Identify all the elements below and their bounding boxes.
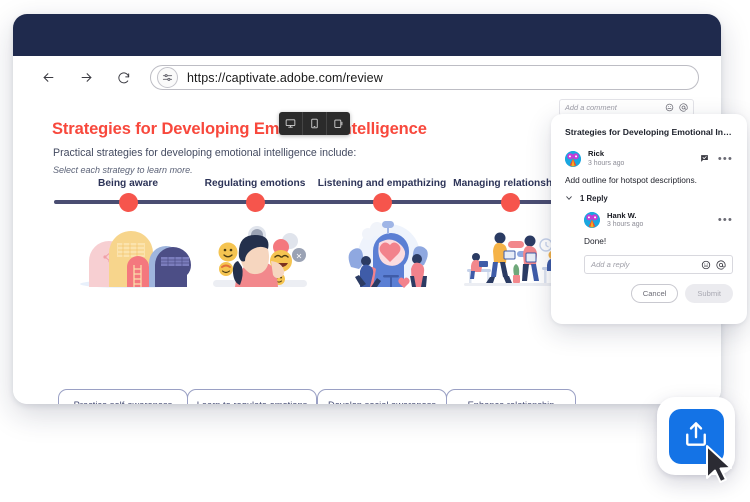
hotspot-card-text: Enhance relationship management skills t…	[454, 399, 568, 404]
comment-panel: Strategies for Developing Emotional Inte…	[551, 114, 747, 324]
page-title: Strategies for Developing Emotional Inte…	[52, 120, 427, 139]
arrow-right-icon[interactable]	[73, 65, 99, 91]
replies-toggle[interactable]: 1 Reply	[565, 194, 733, 203]
submit-button[interactable]: Submit	[685, 284, 733, 303]
browser-titlebar	[13, 14, 721, 56]
page-subtitle: Practical strategies for developing emot…	[53, 147, 356, 159]
add-comment-placeholder: Add a comment	[565, 103, 660, 112]
comment-panel-title: Strategies for Developing Emotional Inte…	[565, 127, 733, 137]
heads-profiles-illustration	[65, 217, 195, 289]
hotspot-dot-2[interactable]	[246, 193, 265, 212]
cancel-button[interactable]: Cancel	[631, 284, 679, 303]
hotspot-label-2: Regulating emotions	[205, 178, 306, 189]
emoji-icon[interactable]	[701, 260, 711, 270]
screenshot-stage: https://captivate.adobe.com/review Strat…	[0, 0, 750, 502]
reply-body: Done!	[584, 236, 733, 246]
more-options-icon[interactable]: •••	[718, 156, 733, 162]
comment-timestamp: 3 hours ago	[588, 160, 624, 168]
comment-header-actions: •••	[700, 154, 733, 163]
browser-toolbar: https://captivate.adobe.com/review	[13, 56, 721, 100]
resolve-comment-icon[interactable]	[700, 154, 709, 163]
hotspot-timeline	[54, 200, 569, 204]
hotspot-card-text: Practice self-awareness through reflecti…	[66, 399, 180, 404]
woman-emoji-bubbles-illustration: ×	[195, 217, 325, 289]
reply-author-block: Hank W. 3 hours ago	[607, 212, 643, 230]
emoji-icon[interactable]	[665, 103, 674, 112]
head-heart-brain-illustration	[324, 217, 454, 289]
reply-header: Hank W. 3 hours ago •••	[584, 212, 733, 230]
arrow-left-icon[interactable]	[35, 65, 61, 91]
chevron-down-icon	[565, 194, 573, 202]
comment-header: Rick 3 hours ago •••	[565, 150, 733, 168]
reply-author: Hank W.	[607, 212, 643, 221]
replies-count-label: 1 Reply	[580, 194, 608, 203]
reply-input[interactable]: Add a reply	[584, 255, 733, 274]
hotspot-label-1: Being aware	[98, 178, 158, 189]
avatar	[584, 212, 600, 228]
mention-icon[interactable]	[716, 260, 726, 270]
reload-icon[interactable]	[111, 65, 137, 91]
reply-placeholder: Add a reply	[591, 260, 696, 269]
tune-icon[interactable]	[157, 67, 178, 88]
hotspot-card-text: Learn to regulate emotions through relax…	[195, 399, 309, 404]
more-options-icon[interactable]: •••	[718, 217, 733, 223]
mention-icon[interactable]	[679, 103, 688, 112]
hotspot-label-4: Managing relationships	[453, 178, 567, 189]
url-text: https://captivate.adobe.com/review	[187, 71, 383, 85]
comment-actions: Cancel Submit	[565, 284, 733, 303]
hotspot-card-3[interactable]: Develop social awareness by actively lis…	[317, 389, 447, 404]
hotspot-card-2[interactable]: Learn to regulate emotions through relax…	[187, 389, 317, 404]
hotspot-label-3: Listening and empathizing	[318, 178, 446, 189]
mobile-icon[interactable]	[326, 112, 350, 135]
comment-author-block: Rick 3 hours ago	[588, 150, 624, 168]
reply-item: Hank W. 3 hours ago ••• Done!	[584, 212, 733, 247]
hotspot-card-4[interactable]: Enhance relationship management skills t…	[446, 389, 576, 404]
address-bar[interactable]: https://captivate.adobe.com/review	[150, 65, 699, 90]
hotspot-dot-3[interactable]	[373, 193, 392, 212]
reply-timestamp: 3 hours ago	[607, 221, 643, 229]
hotspot-card-1[interactable]: Practice self-awareness through reflecti…	[58, 389, 188, 404]
comment-body: Add outline for hotspot descriptions.	[565, 175, 733, 185]
comment-author: Rick	[588, 150, 624, 159]
hotspot-dot-1[interactable]	[119, 193, 138, 212]
device-preview-toggle	[279, 112, 350, 135]
hotspot-card-text: Develop social awareness by actively lis…	[325, 399, 439, 404]
mouse-pointer-icon	[704, 444, 738, 493]
reply-header-actions: •••	[718, 217, 733, 223]
hotspot-dot-4[interactable]	[501, 193, 520, 212]
desktop-icon[interactable]	[279, 112, 302, 135]
svg-text:×: ×	[296, 252, 303, 261]
avatar	[565, 151, 581, 167]
comment-thread: Rick 3 hours ago ••• Add outline for hot…	[565, 150, 733, 303]
tablet-icon[interactable]	[302, 112, 326, 135]
page-hint: Select each strategy to learn more.	[53, 165, 193, 175]
